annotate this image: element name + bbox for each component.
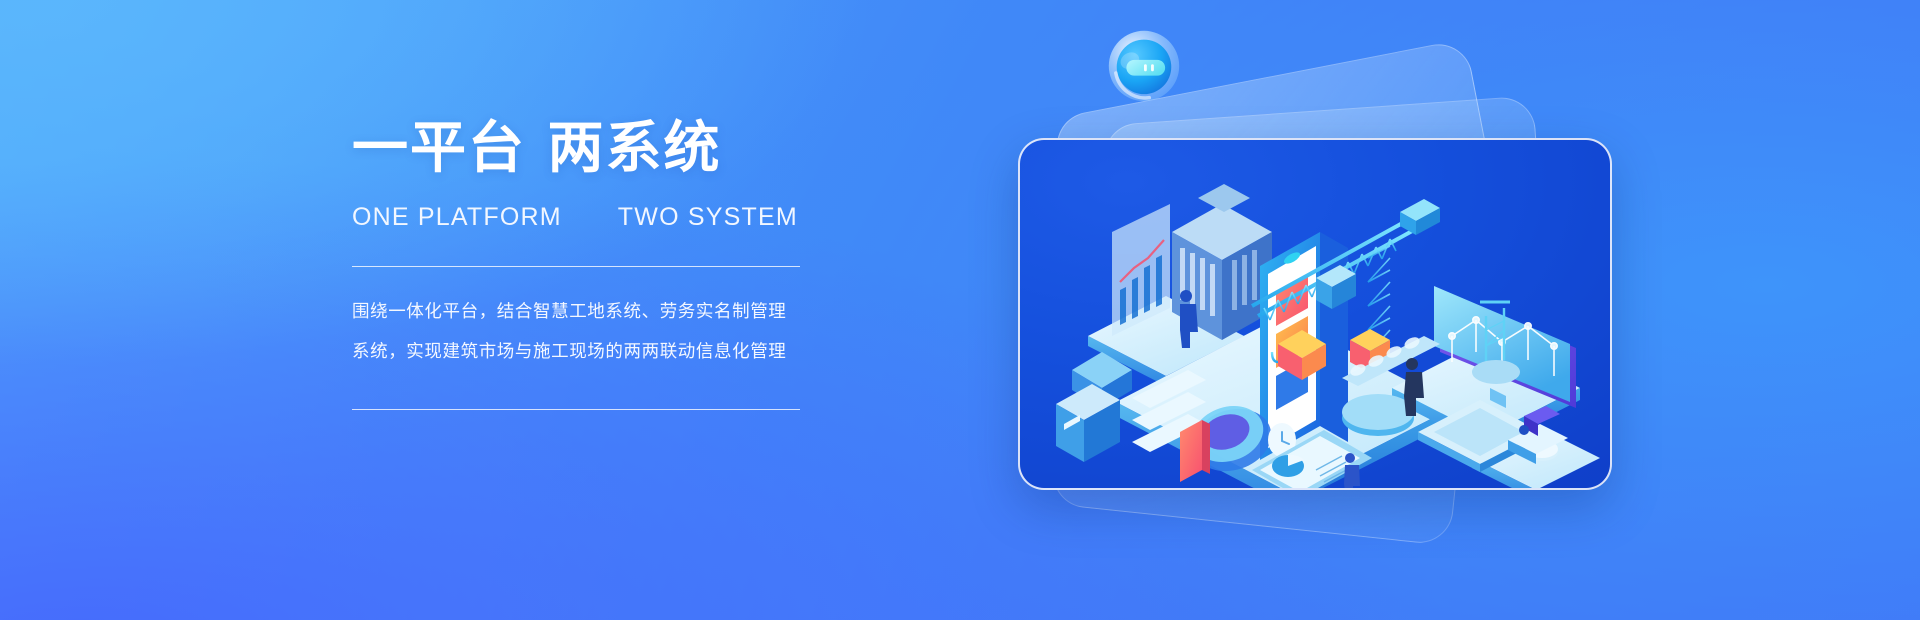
crane-counterweight (1400, 199, 1440, 235)
mini-tower-base (1472, 360, 1520, 384)
divider-top (352, 266, 800, 267)
hero-paragraph: 围绕一体化平台，结合智慧工地系统、劳务实名制管理系统，实现建筑市场与施工现场的两… (352, 293, 804, 373)
illustration-card (1018, 138, 1612, 490)
hero-banner: 一平台 两系统 ONE PLATFORM TWO SYSTEM 围绕一体化平台，… (0, 0, 1920, 620)
isometric-smart-construction-scene (1020, 140, 1610, 488)
hero-title-english: ONE PLATFORM TWO SYSTEM (352, 203, 822, 232)
divider-bottom (352, 409, 800, 410)
vr-headset-badge-icon (1100, 22, 1188, 110)
hero-title-chinese: 一平台 两系统 (352, 118, 822, 181)
hero-title-english-left: ONE PLATFORM (352, 203, 562, 232)
cabinet (1056, 384, 1120, 462)
hero-title-english-right: TWO SYSTEM (618, 203, 798, 232)
crane-base (1342, 394, 1414, 436)
hero-illustration (1010, 14, 1650, 574)
hero-copy-block: 一平台 两系统 ONE PLATFORM TWO SYSTEM 围绕一体化平台，… (352, 118, 822, 410)
